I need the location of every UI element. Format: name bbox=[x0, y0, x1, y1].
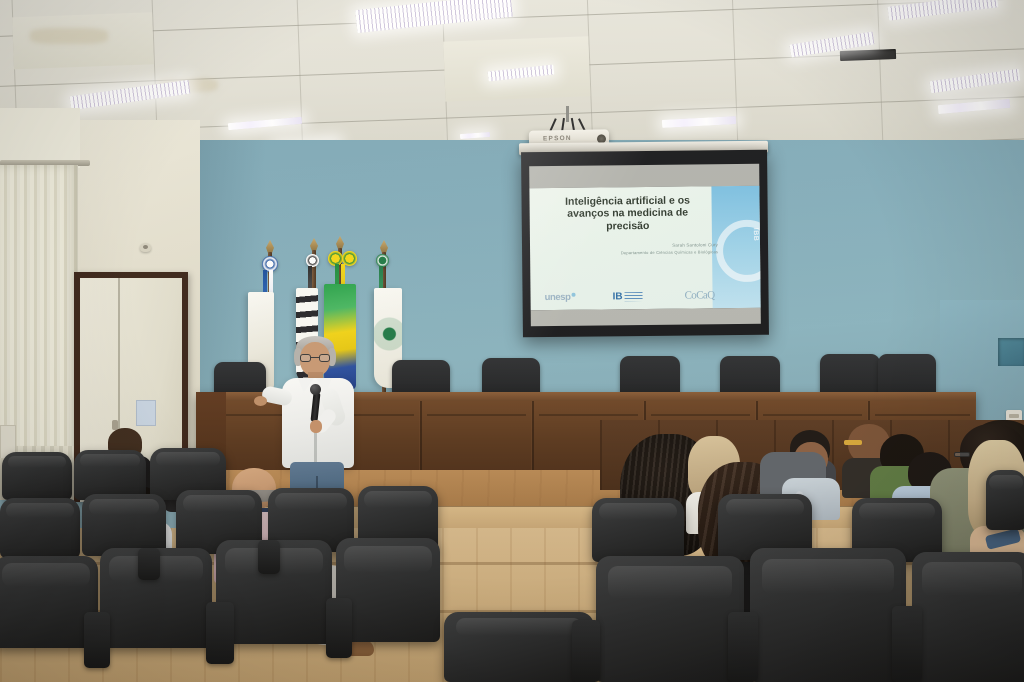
presentation-slide: IBB Inteligência artificial e os avanços… bbox=[529, 186, 760, 310]
screen-bottom-band bbox=[531, 308, 761, 326]
auditorium-seat[interactable] bbox=[986, 470, 1024, 530]
ib-logo-text: IB bbox=[612, 291, 622, 302]
wall-sensor-icon bbox=[140, 243, 151, 252]
presenter-right-hand bbox=[310, 420, 322, 433]
auditorium-seat[interactable] bbox=[596, 556, 744, 682]
seat-armrest bbox=[728, 612, 758, 682]
window-curtain bbox=[0, 165, 78, 455]
slide-decor-word: IBB bbox=[752, 228, 759, 242]
auditorium-seat[interactable] bbox=[912, 552, 1024, 682]
seat-armrest bbox=[138, 548, 160, 580]
seat-armrest bbox=[84, 612, 110, 668]
auditorium-seat[interactable] bbox=[0, 498, 80, 558]
slide-logo-row: unesp IB CoCaQ bbox=[544, 289, 714, 303]
auditorium-seat[interactable] bbox=[2, 452, 72, 500]
slide-author-block: Sarah Santoloni Cury Departamento de Ciê… bbox=[568, 242, 718, 256]
auditorium-seat[interactable] bbox=[750, 548, 906, 682]
cocaq-logo: CoCaQ bbox=[684, 289, 714, 301]
table-panel bbox=[420, 401, 532, 472]
projector-brand-label: EPSON bbox=[543, 135, 572, 143]
seat-armrest bbox=[206, 602, 234, 664]
seat-armrest bbox=[892, 606, 922, 682]
auditorium-seat[interactable] bbox=[82, 494, 166, 556]
auditorium-seat[interactable] bbox=[592, 498, 684, 562]
person-glasses-icon bbox=[844, 440, 862, 445]
seat-armrest bbox=[326, 598, 352, 658]
wall-niche bbox=[998, 338, 1024, 366]
slide-department: Departamento de Ciências Químicas e Biol… bbox=[568, 249, 718, 257]
microphone-head-icon bbox=[310, 384, 321, 395]
slide-title: Inteligência artificial e os avanços na … bbox=[539, 194, 715, 233]
unesp-logo: unesp bbox=[545, 292, 571, 303]
side-wall-upper bbox=[0, 108, 80, 168]
seat-armrest bbox=[572, 620, 600, 682]
door-sign bbox=[136, 400, 156, 426]
seat-armrest bbox=[258, 540, 280, 574]
auditorium-photo: EPSON IBB Inteligência artificial e os a… bbox=[0, 0, 1024, 682]
ib-logo: IB bbox=[612, 291, 642, 302]
person-glasses-icon bbox=[954, 452, 970, 457]
screen-top-band bbox=[529, 164, 759, 188]
presenter-left-hand bbox=[254, 396, 267, 406]
projection-screen: IBB Inteligência artificial e os avanços… bbox=[521, 150, 769, 338]
presenter-glasses-icon bbox=[300, 354, 330, 362]
ib-logo-lines-icon bbox=[624, 292, 642, 301]
auditorium-seat[interactable] bbox=[74, 450, 146, 500]
slide-title-line-3: precisão bbox=[540, 219, 716, 233]
